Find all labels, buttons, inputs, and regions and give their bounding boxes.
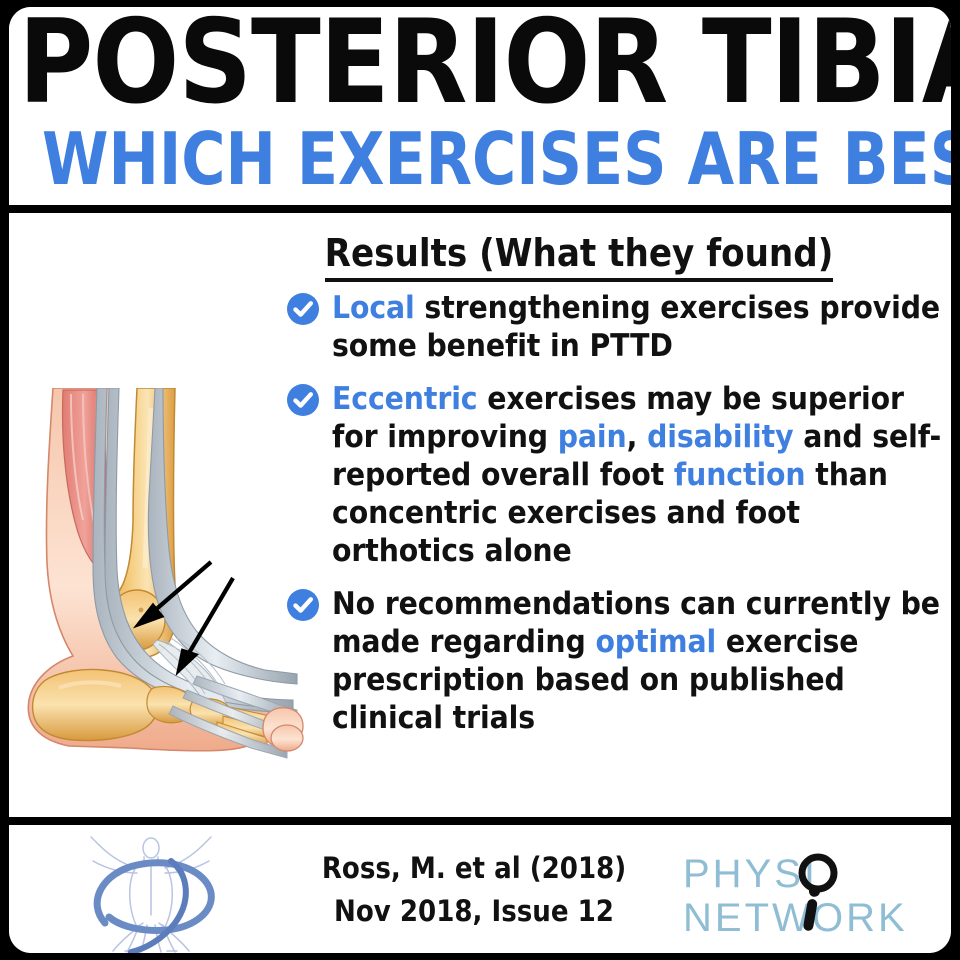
list-item: Eccentric exercises may be superior for … bbox=[286, 380, 946, 570]
check-circle-icon bbox=[286, 383, 320, 417]
results-heading-text: Results (What they found) bbox=[325, 231, 834, 282]
bullet-text-3: No recommendations can currently be made… bbox=[332, 586, 940, 736]
infographic-poster: POSTERIOR TIBIALIS WHICH EXERCISES ARE B… bbox=[0, 0, 960, 960]
page-title: POSTERIOR TIBIALIS bbox=[18, 9, 941, 117]
footer-divider bbox=[9, 817, 951, 825]
list-item: No recommendations can currently be made… bbox=[286, 585, 946, 737]
bullet-text-2: Eccentric exercises may be superior for … bbox=[332, 381, 941, 569]
poster-card: POSTERIOR TIBIALIS WHICH EXERCISES ARE B… bbox=[9, 7, 951, 953]
check-circle-icon bbox=[286, 588, 320, 622]
results-section: Results (What they found) bbox=[9, 213, 951, 817]
logo-text-network: NETW bbox=[683, 896, 813, 937]
logo-text-physio: PHYSI bbox=[683, 852, 818, 896]
results-heading: Results (What they found) bbox=[279, 231, 879, 282]
bullet-text-1: Local strengthening exercises provide so… bbox=[332, 290, 940, 364]
physio-network-logo: PHYSI NETW ORK bbox=[681, 849, 926, 937]
poster-header: POSTERIOR TIBIALIS WHICH EXERCISES ARE B… bbox=[9, 7, 951, 205]
list-item: Local strengthening exercises provide so… bbox=[286, 289, 946, 365]
check-circle-icon bbox=[286, 292, 320, 326]
results-bullet-list: Local strengthening exercises provide so… bbox=[286, 289, 946, 752]
citation-line-2: Nov 2018, Issue 12 bbox=[259, 890, 689, 933]
svg-text:ORK: ORK bbox=[812, 896, 908, 937]
vitruvian-figure-logo bbox=[71, 831, 231, 953]
citation: Ross, M. et al (2018) Nov 2018, Issue 12 bbox=[259, 847, 689, 933]
foot-ankle-anatomy-illustration bbox=[11, 388, 311, 808]
poster-footer: Ross, M. et al (2018) Nov 2018, Issue 12… bbox=[9, 825, 951, 953]
citation-line-1: Ross, M. et al (2018) bbox=[259, 847, 689, 890]
page-subtitle: WHICH EXERCISES ARE BEST? bbox=[42, 123, 918, 195]
header-divider bbox=[9, 205, 951, 213]
